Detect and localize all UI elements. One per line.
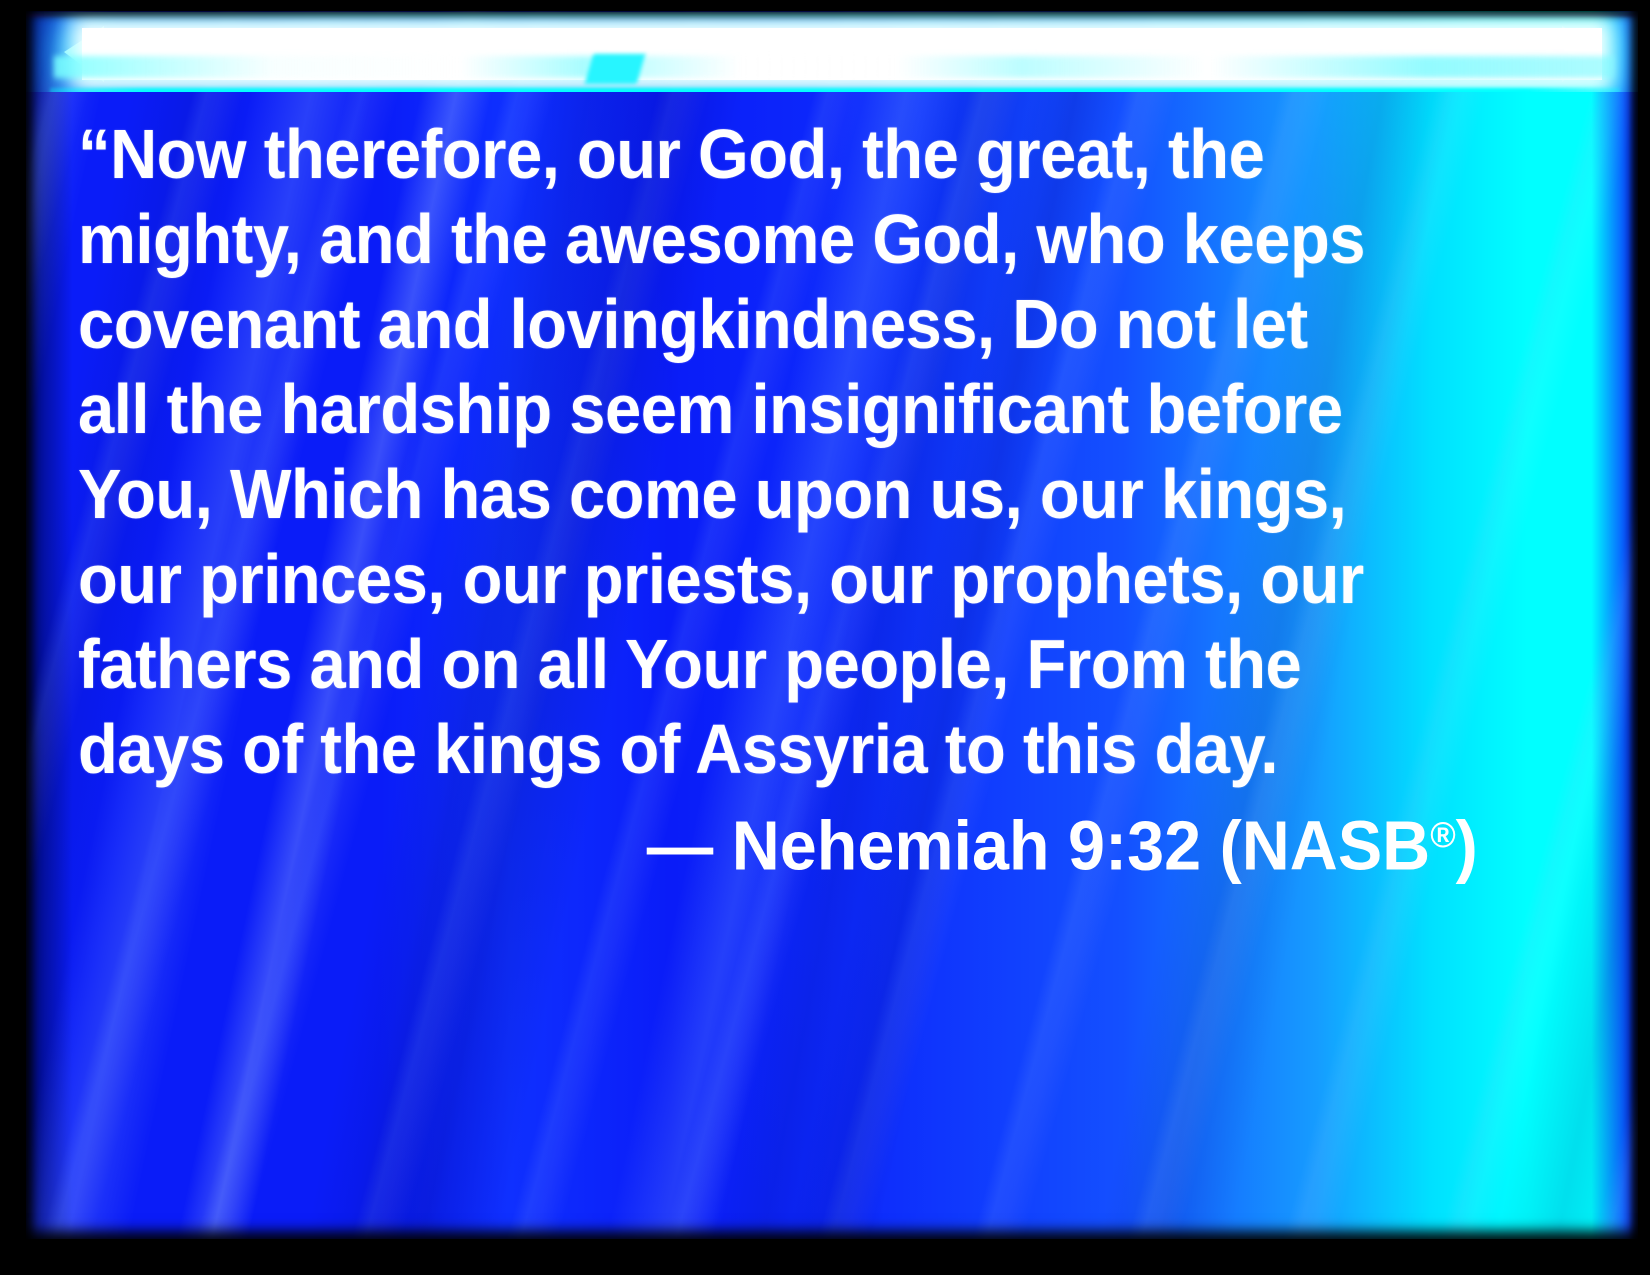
verse-citation: — Nehemiah 9:32 (NASB®) (78, 792, 1478, 889)
verse-line: all the hardship seem insignificant befo… (78, 367, 1380, 452)
scripture-slide: “Now therefore, our God, the great, the … (0, 0, 1650, 1275)
glow-banner (24, 12, 1640, 92)
verse-line: our princes, our priests, our prophets, … (78, 537, 1380, 622)
citation-translation-open: (NASB (1220, 807, 1431, 885)
frame-left-edge (0, 0, 26, 1275)
citation-translation-close: ) (1456, 807, 1478, 885)
verse-line: You, Which has come upon us, our kings, (78, 452, 1380, 537)
verse-line: days of the kings of Assyria to this day… (78, 707, 1380, 792)
banner-cyan-notch (585, 54, 646, 84)
verse-line: covenant and lovingkindness, Do not let (78, 282, 1380, 367)
banner-overline (24, 13, 1640, 17)
citation-inner: — Nehemiah 9:32 (NASB®) (647, 792, 1478, 889)
citation-dash: — (647, 807, 714, 885)
citation-book: Nehemiah (732, 807, 1050, 885)
verse-text-block: “Now therefore, our God, the great, the … (78, 112, 1478, 792)
verse-line: mighty, and the awesome God, who keeps (78, 197, 1380, 282)
banner-cyan-wash (54, 56, 1614, 78)
frame-bottom-edge (0, 1239, 1650, 1275)
banner-underline (50, 88, 1620, 92)
verse-line: fathers and on all Your people, From the (78, 622, 1380, 707)
verse-line: “Now therefore, our God, the great, the (78, 112, 1380, 197)
registered-trademark-icon: ® (1430, 814, 1455, 855)
citation-reference: 9:32 (1068, 807, 1201, 885)
